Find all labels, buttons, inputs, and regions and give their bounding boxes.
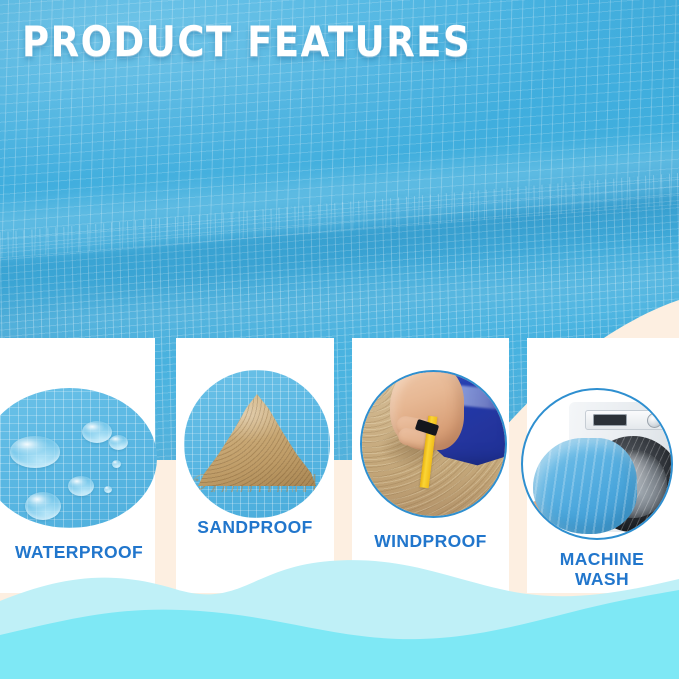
water-droplet-icon <box>104 486 112 493</box>
fabric-folds <box>533 438 637 534</box>
infographic-stage: PRODUCT FEATURES <box>0 0 679 679</box>
water-droplet-icon <box>68 476 94 496</box>
page-title: PRODUCT FEATURES <box>22 18 471 66</box>
washing-machine-dial <box>647 413 662 428</box>
feature-label-sandproof: SANDPROOF <box>176 518 334 538</box>
machine-wash-image <box>521 388 673 540</box>
feature-label-machine-wash: MACHINE WASH <box>525 550 679 589</box>
sandproof-image <box>184 370 330 518</box>
water-droplet-icon <box>112 460 121 468</box>
feature-label-windproof: WINDPROOF <box>352 532 509 552</box>
feature-label-waterproof: WATERPROOF <box>0 543 158 563</box>
water-droplet-icon <box>10 436 60 468</box>
windproof-image <box>360 370 507 518</box>
waterproof-image <box>0 388 157 528</box>
water-droplet-icon <box>25 492 61 520</box>
water-droplet-icon <box>109 435 128 450</box>
water-droplet-icon <box>82 421 112 443</box>
washing-machine-display <box>593 414 627 426</box>
blue-fabric-bundle <box>533 438 637 534</box>
